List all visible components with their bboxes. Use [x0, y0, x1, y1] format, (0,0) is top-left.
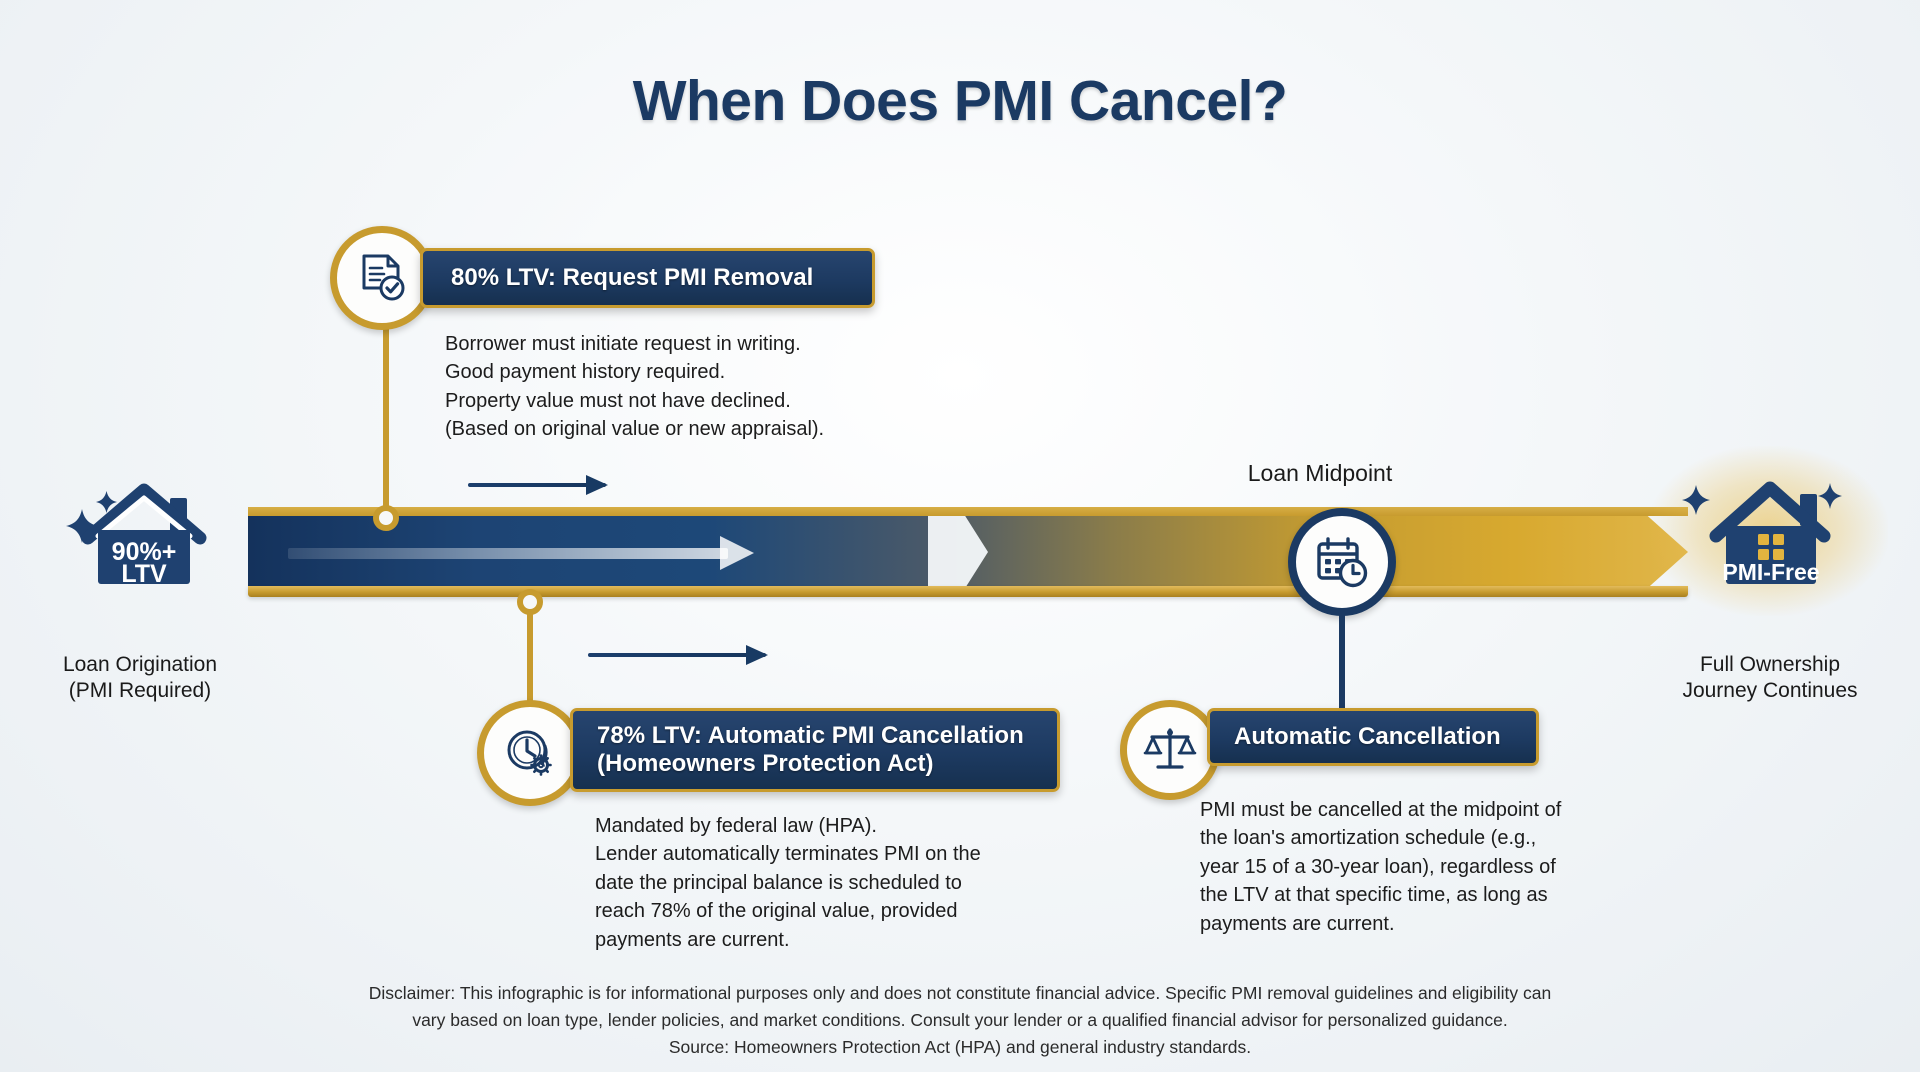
milestone-icon-circle-auto-cancel[interactable]: [1120, 700, 1220, 800]
body-text-80ltv-line2: Good payment history required.: [445, 358, 925, 386]
timeline-bar-gold-underline: [248, 586, 1688, 597]
label-loan-origination-line2: (PMI Required): [20, 678, 260, 704]
label-full-ownership-line1: Full Ownership: [1630, 652, 1910, 678]
connector-line-auto-cancel: [1339, 608, 1345, 710]
house-sparkle-icon: 90%+ LTV: [52, 470, 232, 588]
label-full-ownership-line2: Journey Continues: [1630, 678, 1910, 704]
disclaimer-line2: vary based on loan type, lender policies…: [0, 1007, 1920, 1034]
label-loan-origination-line1: Loan Origination: [20, 652, 260, 678]
badge-automatic-cancellation-label: Automatic Cancellation: [1234, 723, 1501, 751]
badge-78-ltv[interactable]: 78% LTV: Automatic PMI Cancellation (Hom…: [570, 708, 1060, 792]
milestone-icon-circle-midpoint[interactable]: [1288, 508, 1396, 616]
timeline-progress-arrow-icon: [288, 542, 788, 564]
body-text-auto-cancel-line4: the LTV at that specific time, as long a…: [1200, 881, 1630, 909]
connector-node-80ltv: [373, 505, 399, 531]
body-text-80ltv: Borrower must initiate request in writin…: [445, 330, 925, 444]
direction-arrow-bottom-icon: [588, 648, 766, 662]
disclaimer-line3: Source: Homeowners Protection Act (HPA) …: [0, 1034, 1920, 1061]
calendar-clock-icon: [1312, 532, 1372, 592]
body-text-78ltv-line5: payments are current.: [595, 926, 1065, 954]
body-text-80ltv-line3: Property value must not have declined.: [445, 387, 925, 415]
body-text-78ltv: Mandated by federal law (HPA). Lender au…: [595, 812, 1065, 954]
scales-icon: [1143, 723, 1197, 777]
body-text-80ltv-line1: Borrower must initiate request in writin…: [445, 330, 925, 358]
badge-78-ltv-label-line1: 78% LTV: Automatic PMI Cancellation: [597, 722, 1024, 750]
milestone-icon-circle-78ltv[interactable]: [477, 700, 583, 806]
body-text-auto-cancel-line1: PMI must be cancelled at the midpoint of: [1200, 796, 1630, 824]
disclaimer: Disclaimer: This infographic is for info…: [0, 980, 1920, 1061]
page-title: When Does PMI Cancel?: [0, 68, 1920, 134]
body-text-auto-cancel-line5: payments are current.: [1200, 910, 1630, 938]
house-window-icon: PMI-Free: [1672, 466, 1862, 590]
infographic-canvas: When Does PMI Cancel?: [0, 0, 1920, 1072]
document-check-icon: [354, 250, 410, 306]
badge-78-ltv-label-line2: (Homeowners Protection Act): [597, 750, 933, 778]
label-loan-origination: Loan Origination (PMI Required): [20, 652, 260, 705]
clock-gear-icon: [501, 724, 559, 782]
milestone-icon-circle-80ltv[interactable]: [330, 226, 434, 330]
label-loan-midpoint: Loan Midpoint: [1160, 460, 1480, 487]
connector-node-78ltv: [517, 589, 543, 615]
timeline-bar-gold-top-edge: [248, 507, 1688, 516]
label-full-ownership: Full Ownership Journey Continues: [1630, 652, 1910, 705]
badge-80-ltv-label: 80% LTV: Request PMI Removal: [451, 264, 813, 292]
body-text-78ltv-line2: Lender automatically terminates PMI on t…: [595, 840, 1065, 868]
body-text-auto-cancel-line3: year 15 of a 30-year loan), regardless o…: [1200, 853, 1630, 881]
ltv-start-badge-line2: LTV: [121, 560, 167, 588]
body-text-78ltv-line4: reach 78% of the original value, provide…: [595, 897, 1065, 925]
timeline-bar: [248, 516, 1688, 596]
body-text-78ltv-line3: date the principal balance is scheduled …: [595, 869, 1065, 897]
body-text-78ltv-line1: Mandated by federal law (HPA).: [595, 812, 1065, 840]
body-text-auto-cancel-line2: the loan's amortization schedule (e.g.,: [1200, 824, 1630, 852]
pmi-free-badge-label: PMI-Free: [1722, 559, 1819, 585]
body-text-auto-cancel: PMI must be cancelled at the midpoint of…: [1200, 796, 1630, 938]
disclaimer-line1: Disclaimer: This infographic is for info…: [0, 980, 1920, 1007]
body-text-80ltv-line4: (Based on original value or new appraisa…: [445, 415, 925, 443]
badge-80-ltv[interactable]: 80% LTV: Request PMI Removal: [420, 248, 875, 308]
badge-automatic-cancellation[interactable]: Automatic Cancellation: [1207, 708, 1539, 766]
direction-arrow-top-icon: [468, 478, 606, 492]
